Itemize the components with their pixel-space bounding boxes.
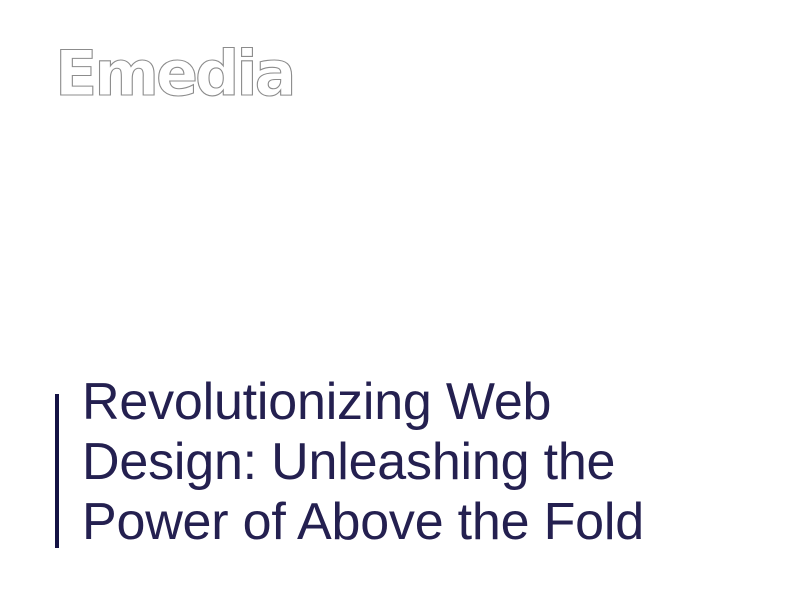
- emedia-wordmark-icon: Emedia: [55, 33, 355, 109]
- brand-logo[interactable]: Emedia: [55, 33, 355, 109]
- page-title: Revolutionizing Web Design: Unleashing t…: [59, 372, 644, 552]
- headline-line-3: Power of Above the Fold: [82, 492, 644, 552]
- headline-line-1: Revolutionizing Web: [82, 372, 644, 432]
- headline-block: Revolutionizing Web Design: Unleashing t…: [55, 372, 644, 552]
- title-slide: Emedia Revolutionizing Web Design: Unlea…: [0, 0, 800, 600]
- brand-name-text: Emedia: [55, 37, 293, 109]
- headline-line-2: Design: Unleashing the: [82, 432, 644, 492]
